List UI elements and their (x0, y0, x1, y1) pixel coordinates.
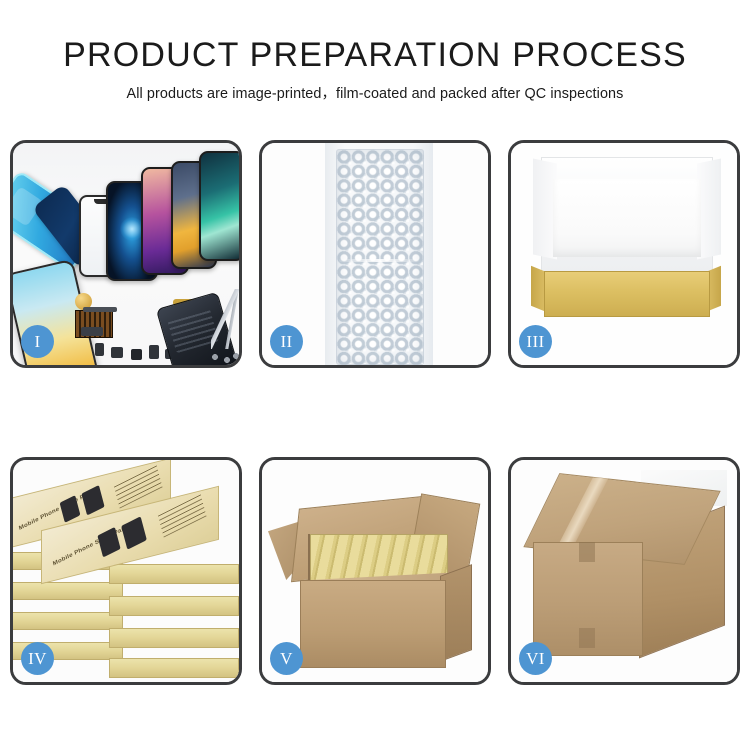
inner-box-front-panel (544, 271, 710, 317)
process-step-panel-5: V (259, 457, 491, 685)
green-phone-image (199, 151, 239, 261)
product-preparation-page: PRODUCT PREPARATION PROCESS All products… (0, 0, 750, 750)
page-header: PRODUCT PREPARATION PROCESS All products… (0, 33, 750, 104)
step-badge-6: VI (519, 642, 552, 675)
bubble-pattern (336, 149, 424, 365)
process-step-panel-6: VI (508, 457, 740, 685)
step-badge-2: II (270, 325, 303, 358)
process-step-panel-4: Mobile Phone Spare Parts Mobile Phone Sp… (10, 457, 242, 685)
repair-tools-image (211, 289, 239, 349)
process-step-panel-1: I (10, 140, 242, 368)
process-step-panel-3: III (508, 140, 740, 368)
wrap-seam (339, 259, 419, 262)
page-title: PRODUCT PREPARATION PROCESS (0, 33, 750, 77)
carton-front-panel (300, 580, 446, 668)
foam-liner-image (553, 179, 701, 257)
process-steps-grid: I II (10, 140, 740, 685)
step-badge-1: I (21, 325, 54, 358)
step-badge-3: III (519, 325, 552, 358)
step-badge-4: IV (21, 642, 54, 675)
bubble-wrap-sheet-image (325, 143, 433, 365)
screws-image (209, 351, 239, 365)
carton-hand-hole-lower (579, 628, 595, 648)
carton-hand-hole-upper (579, 542, 595, 562)
process-step-panel-2: II (259, 140, 491, 368)
step-badge-5: V (270, 642, 303, 675)
page-subtitle: All products are image-printed，film-coat… (0, 84, 750, 104)
